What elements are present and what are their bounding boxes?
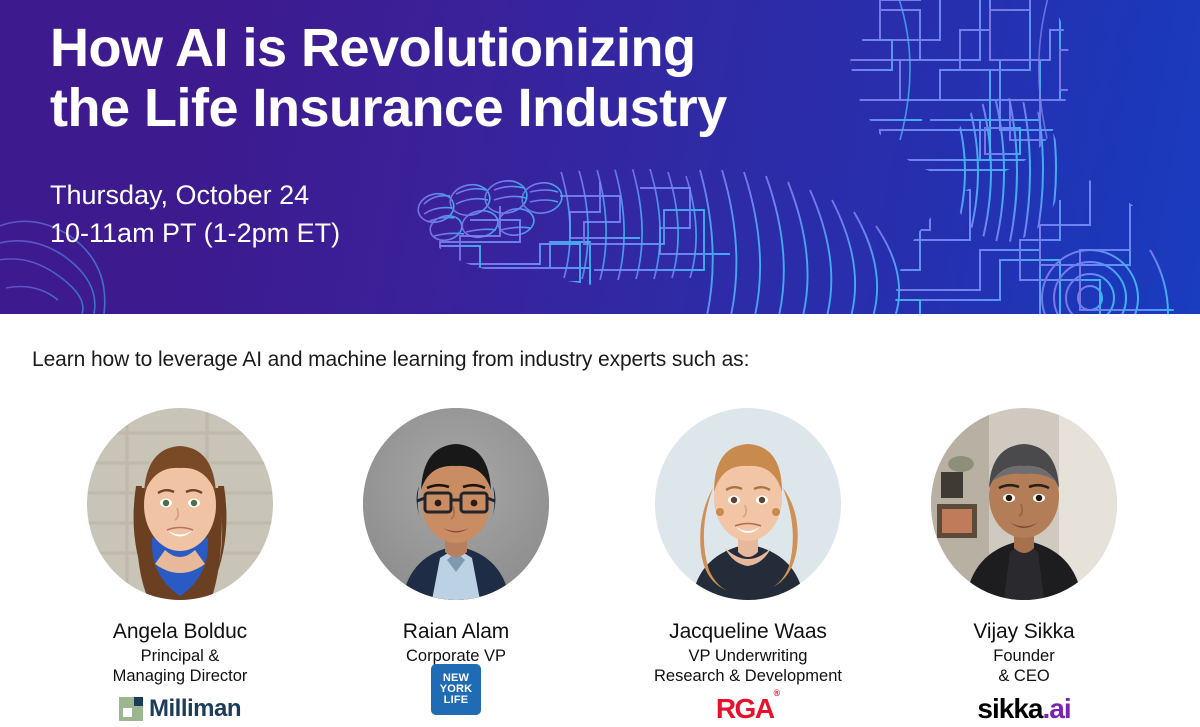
event-datetime: Thursday, October 24 10-11am PT (1-2pm E… (50, 176, 1200, 252)
sikka-ai-wordmark: sikka.ai (977, 693, 1070, 725)
speaker-name: Raian Alam (318, 620, 594, 644)
page-title: How AI is Revolutionizing the Life Insur… (50, 18, 1200, 138)
portrait-angela-bolduc (87, 408, 273, 600)
speaker-title: VP Underwriting Research & Development (610, 646, 886, 686)
speaker-name: Vijay Sikka (886, 620, 1162, 644)
company-logo-new-york-life: NEW YORK LIFE (318, 672, 594, 706)
speaker-name: Jacqueline Waas (610, 620, 886, 644)
hero-banner: How AI is Revolutionizing the Life Insur… (0, 0, 1200, 314)
speaker-card-vijay-sikka: Vijay Sikka Founder & CEO sikka.ai (886, 408, 1162, 726)
speaker-name: Angela Bolduc (42, 620, 318, 644)
rga-trademark: ® (774, 688, 781, 698)
nyl-line-3: LIFE (444, 695, 469, 706)
sikka-word: sikka (977, 693, 1042, 724)
rga-word: RGA (716, 693, 774, 724)
speaker-card-angela-bolduc: Angela Bolduc Principal & Managing Direc… (42, 408, 318, 726)
rga-wordmark: RGA® (716, 693, 780, 725)
milliman-wordmark: Milliman (149, 695, 241, 723)
portrait-vijay-sikka (931, 408, 1117, 600)
sikka-dot-ai: .ai (1042, 693, 1070, 724)
lead-in-text: Learn how to leverage AI and machine lea… (32, 348, 749, 372)
speaker-title: Principal & Managing Director (42, 646, 318, 686)
company-logo-sikka-ai: sikka.ai (886, 692, 1162, 726)
speaker-title: Founder & CEO (886, 646, 1162, 686)
company-logo-milliman: Milliman (42, 692, 318, 726)
speaker-card-jacqueline-waas: Jacqueline Waas VP Underwriting Research… (610, 408, 886, 726)
portrait-jacqueline-waas (655, 408, 841, 600)
new-york-life-wordmark: NEW YORK LIFE (431, 664, 481, 715)
milliman-mark-icon (119, 697, 143, 721)
speaker-card-raian-alam: Raian Alam Corporate VP NEW YORK LIFE (318, 408, 594, 726)
portrait-raian-alam (363, 408, 549, 600)
speaker-list: Angela Bolduc Principal & Managing Direc… (0, 408, 1200, 726)
company-logo-rga: RGA® (610, 692, 886, 726)
